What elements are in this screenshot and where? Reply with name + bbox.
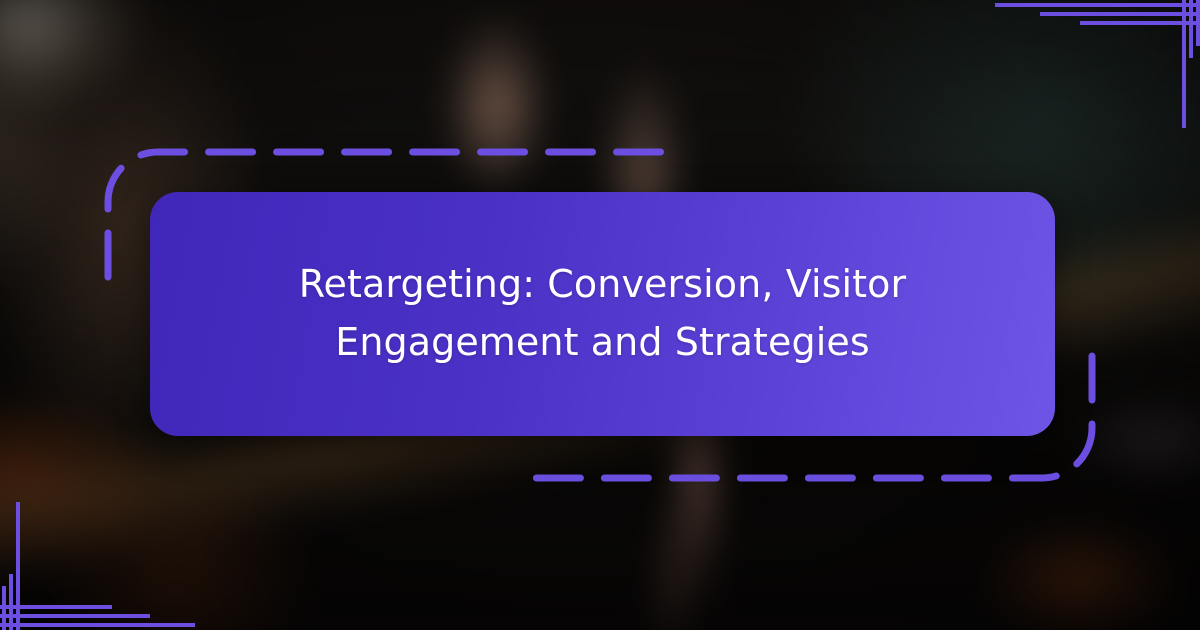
corner-line-vertical-3 [1196,0,1200,46]
corner-line-vertical-2 [9,574,13,630]
corner-line-horizontal-1 [0,623,195,627]
corner-line-vertical-2 [1189,0,1193,58]
corner-line-vertical-1 [16,502,20,630]
corner-line-horizontal-2 [0,614,150,618]
banner-canvas: Retargeting: Conversion, Visitor Engagem… [0,0,1200,630]
bottom-left-corner-lines [0,500,210,630]
corner-line-horizontal-2 [1040,12,1200,16]
corner-line-vertical-1 [1182,0,1186,128]
page-title: Retargeting: Conversion, Visitor Engagem… [208,256,998,372]
title-card: Retargeting: Conversion, Visitor Engagem… [150,192,1055,436]
corner-line-vertical-3 [2,586,6,630]
top-right-corner-lines [990,0,1200,130]
corner-line-horizontal-1 [995,3,1200,7]
